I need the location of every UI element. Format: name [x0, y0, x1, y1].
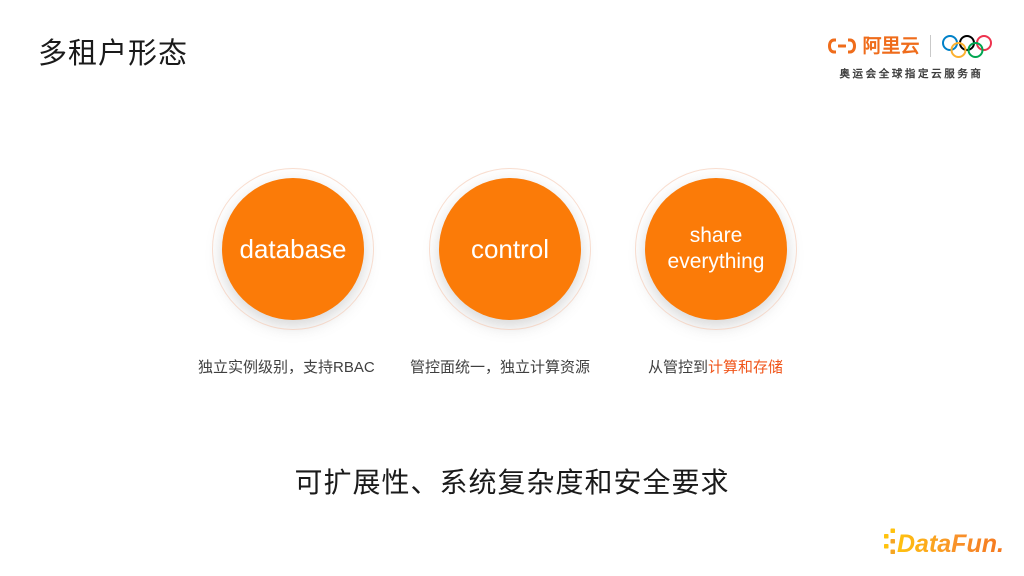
brand-tagline: 奥运会全球指定云服务商	[812, 68, 1008, 81]
olympic-rings-icon	[941, 34, 993, 58]
caption-share-everything: 从管控到计算和存储	[648, 357, 783, 379]
datafun-logo: DataFun.	[884, 524, 1010, 562]
brand-name-label: 阿里云	[862, 37, 919, 56]
brand-divider	[930, 35, 931, 57]
caption-row: 独立实例级别，支持RBAC 管控面统一，独立计算资源 从管控到计算和存储	[0, 357, 1024, 381]
alibaba-cloud-logo: 阿里云	[827, 37, 919, 56]
caption-highlight-text: 计算和存储	[708, 359, 783, 376]
brand-logo-row: 阿里云	[812, 30, 1008, 62]
bubble-row: database control share everything	[0, 178, 1024, 320]
bubble-label: control	[465, 236, 555, 263]
caption-control: 管控面统一，独立计算资源	[410, 357, 590, 379]
caption-text: 管控面统一，独立计算资源	[410, 359, 590, 376]
caption-text: 独立实例级别，支持RBAC	[198, 359, 375, 376]
bubble-share-everything: share everything	[645, 178, 787, 320]
brand-logo-group: 阿里云 奥运会全球指定云服务商	[812, 30, 1008, 92]
alibaba-cloud-mark-icon	[827, 37, 857, 55]
caption-text: 从管控到	[648, 359, 708, 376]
svg-text:DataFun.: DataFun.	[897, 530, 1004, 558]
bubble-control: control	[439, 178, 581, 320]
bubble-database: database	[222, 178, 364, 320]
page-title: 多租户形态	[38, 34, 188, 74]
caption-database: 独立实例级别，支持RBAC	[198, 357, 375, 379]
bubble-label: share everything	[662, 223, 771, 275]
bubble-label: database	[234, 236, 353, 263]
summary-statement: 可扩展性、系统复杂度和安全要求	[0, 463, 1024, 503]
slide-canvas: 多租户形态 阿里云	[0, 0, 1024, 576]
